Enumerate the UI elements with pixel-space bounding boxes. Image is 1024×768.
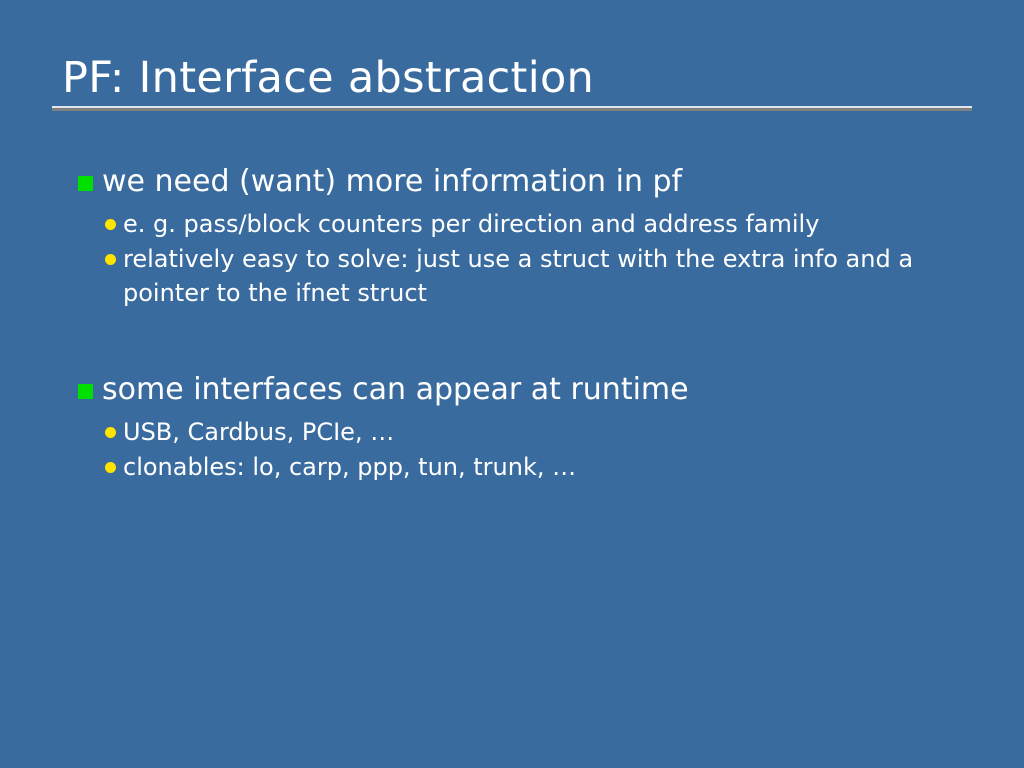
title-underline-rule	[52, 106, 972, 111]
square-bullet-icon	[78, 384, 93, 399]
bullet-level1: some interfaces can appear at runtime	[78, 370, 978, 409]
dot-bullet-icon	[105, 219, 116, 230]
bullet-level1: we need (want) more information in pf	[78, 162, 978, 201]
page-title: PF: Interface abstraction	[52, 52, 972, 104]
bullet-level2-label: clonables: lo, carp, ppp, tun, trunk, …	[123, 450, 576, 484]
bullet-level2-label: relatively easy to solve: just use a str…	[123, 242, 923, 310]
bullet-level2-label: USB, Cardbus, PCIe, …	[123, 415, 394, 449]
title-rule-line	[52, 108, 972, 111]
bullet-level2-label: e. g. pass/block counters per direction …	[123, 207, 819, 241]
bullet-level1-label: some interfaces can appear at runtime	[102, 370, 689, 409]
bullet-group-1: we need (want) more information in pf e.…	[78, 162, 978, 310]
dot-bullet-icon	[105, 462, 116, 473]
square-bullet-icon	[78, 176, 93, 191]
bullet-level1-label: we need (want) more information in pf	[102, 162, 682, 201]
bullet-level2: e. g. pass/block counters per direction …	[105, 207, 978, 241]
dot-bullet-icon	[105, 427, 116, 438]
bullet-level2: USB, Cardbus, PCIe, …	[105, 415, 978, 449]
bullet-level2: relatively easy to solve: just use a str…	[105, 242, 978, 310]
slide-body: we need (want) more information in pf e.…	[78, 162, 978, 485]
bullet-level2: clonables: lo, carp, ppp, tun, trunk, …	[105, 450, 978, 484]
dot-bullet-icon	[105, 254, 116, 265]
bullet-group-2: some interfaces can appear at runtime US…	[78, 370, 978, 484]
presentation-slide: PF: Interface abstraction we need (want)…	[0, 0, 1024, 768]
title-block: PF: Interface abstraction	[52, 52, 972, 104]
